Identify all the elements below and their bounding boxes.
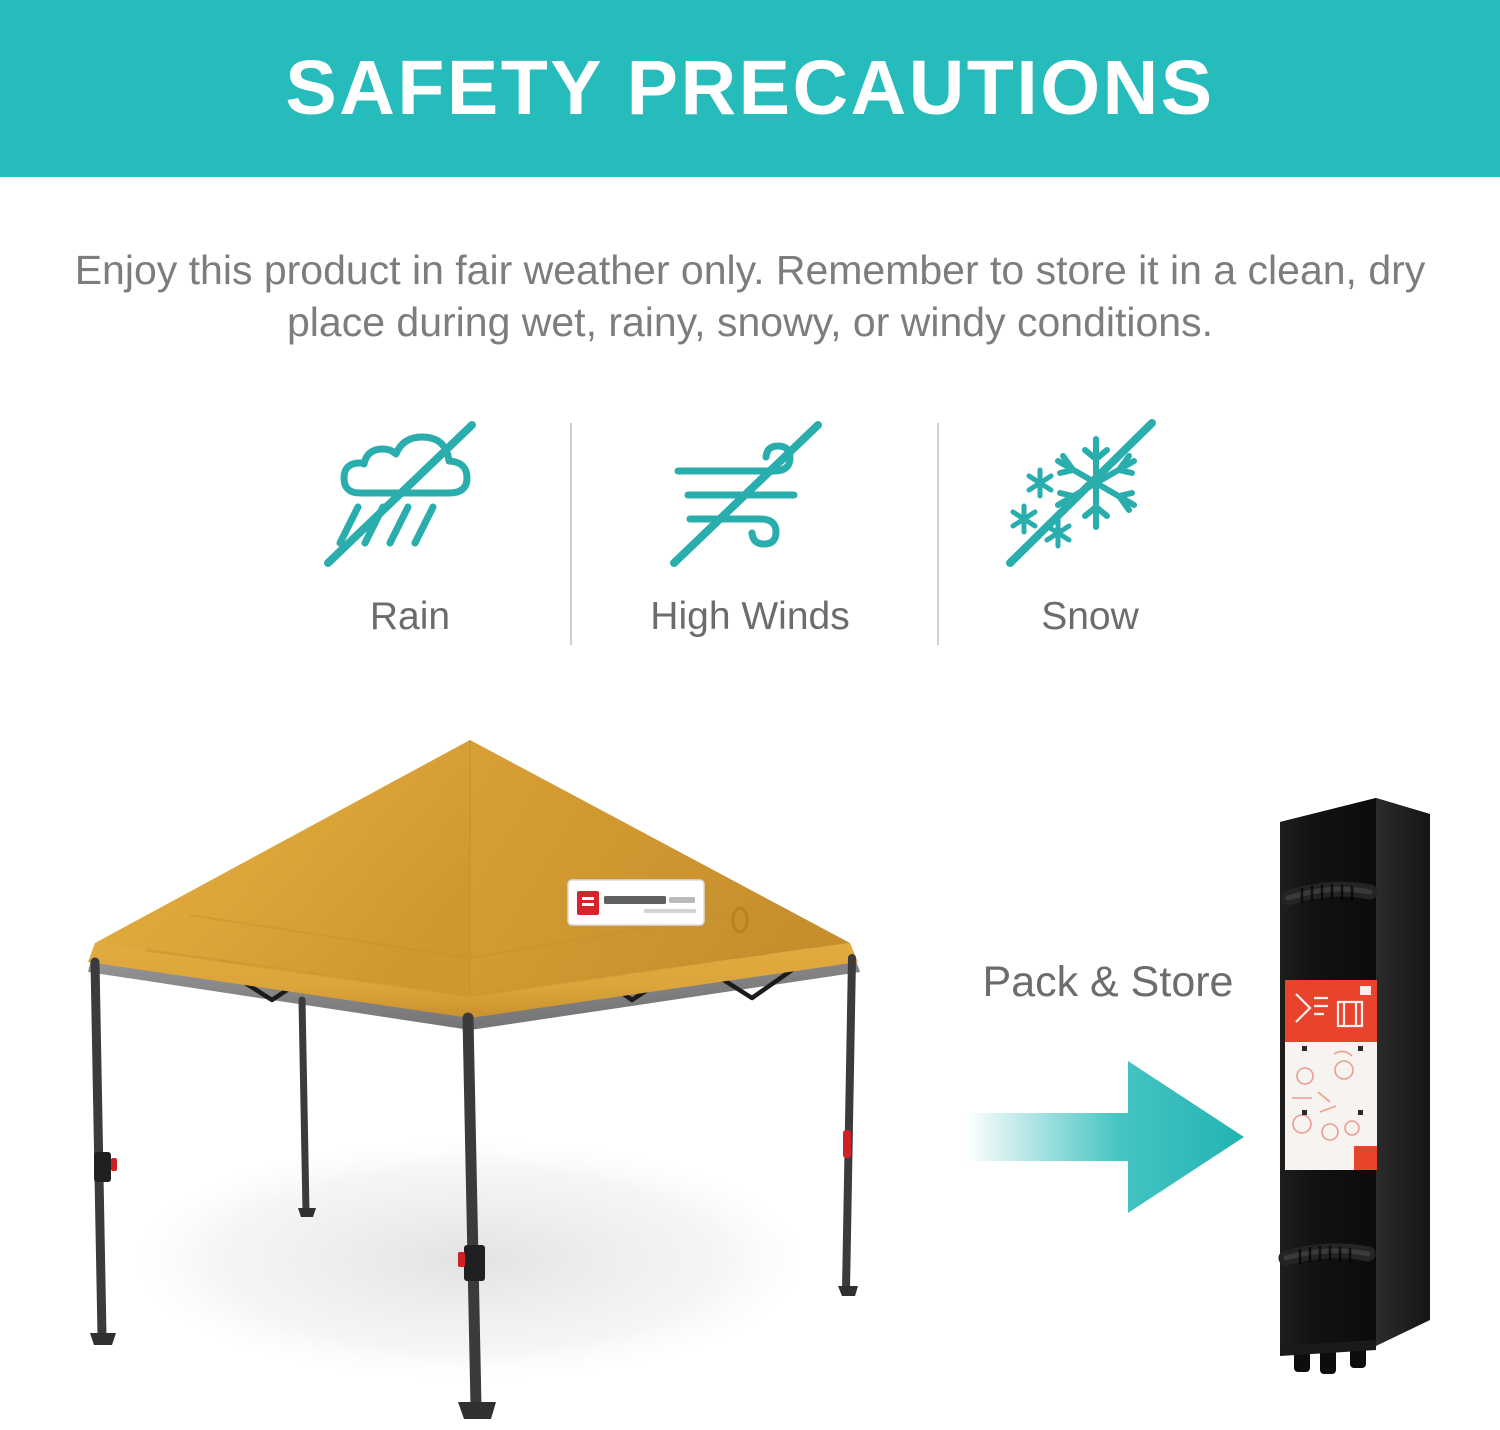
weather-conditions-row: Rain High Winds bbox=[240, 415, 1260, 665]
leg-back-middle bbox=[302, 1000, 306, 1212]
no-snow-icon bbox=[1000, 415, 1180, 575]
foot-near-center bbox=[458, 1402, 496, 1419]
tent-frame-legs bbox=[95, 958, 852, 1406]
leg-front-left bbox=[95, 962, 102, 1336]
header-band: SAFETY PRECAUTIONS bbox=[0, 0, 1500, 177]
bag-side-face bbox=[1376, 798, 1430, 1346]
condition-label-snow: Snow bbox=[1041, 595, 1139, 639]
infographic-page: SAFETY PRECAUTIONS Enjoy this product in… bbox=[0, 0, 1500, 1430]
leg-back-right bbox=[846, 958, 852, 1290]
bag-product-label bbox=[1285, 980, 1377, 1170]
canopy-tent-illustration bbox=[40, 700, 1000, 1430]
no-wind-icon bbox=[660, 415, 840, 575]
right-arrow-icon bbox=[960, 1045, 1250, 1225]
foot-front-left bbox=[90, 1333, 116, 1345]
foot-back-right bbox=[838, 1286, 858, 1296]
product-scene: Pack & Store bbox=[0, 690, 1500, 1430]
condition-label-rain: Rain bbox=[370, 595, 450, 639]
storage-bag-illustration bbox=[1258, 780, 1448, 1390]
condition-item-snow: Snow bbox=[920, 415, 1260, 665]
condition-item-rain: Rain bbox=[240, 415, 580, 665]
condition-item-high-winds: High Winds bbox=[580, 415, 920, 665]
pack-store-label: Pack & Store bbox=[958, 958, 1258, 1007]
brand-tag bbox=[568, 880, 704, 925]
page-title: SAFETY PRECAUTIONS bbox=[285, 50, 1214, 127]
foot-back-middle bbox=[298, 1208, 316, 1217]
no-rain-cloud-icon bbox=[320, 415, 500, 575]
subtitle-text: Enjoy this product in fair weather only.… bbox=[70, 244, 1430, 349]
condition-label-high-winds: High Winds bbox=[650, 595, 849, 639]
